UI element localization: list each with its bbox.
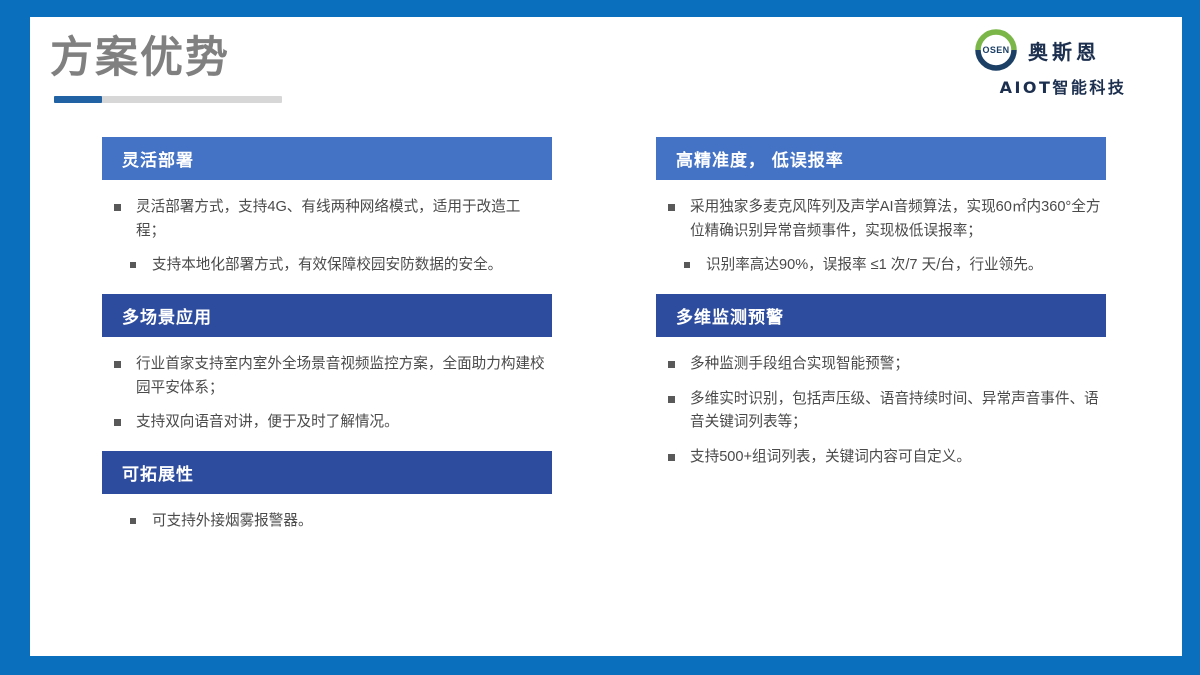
bullet-square-icon <box>668 396 675 403</box>
feature-section: 多维监测预警多种监测手段组合实现智能预警；多维实时识别，包括声压级、语音持续时间… <box>656 294 1106 480</box>
bullet-square-icon <box>668 204 675 211</box>
bullet-item: 支持500+组词列表，关键词内容可自定义。 <box>660 446 1102 470</box>
bullet-list: 行业首家支持室内室外全场景音视频监控方案，全面助力构建校园平安体系；支持双向语音… <box>106 353 548 435</box>
title-underline-accent <box>54 96 102 103</box>
logo-primary-row: OSEN 奥斯恩 <box>972 27 1154 73</box>
bullet-text: 支持本地化部署方式，有效保障校园安防数据的安全。 <box>152 257 502 273</box>
bullet-text: 采用独家多麦克风阵列及声学AI音频算法，实现60㎡内360°全方位精确识别异常音… <box>690 199 1100 239</box>
section-header: 灵活部署 <box>102 137 552 180</box>
bullet-square-icon <box>668 361 675 368</box>
bullet-square-icon <box>130 262 136 268</box>
bullet-text: 多种监测手段组合实现智能预警； <box>690 356 909 372</box>
bullet-square-icon <box>114 419 121 426</box>
section-header: 多维监测预警 <box>656 294 1106 337</box>
bullet-text: 支持双向语音对讲，便于及时了解情况。 <box>136 414 399 430</box>
section-header: 高精准度， 低误报率 <box>656 137 1106 180</box>
left-column: 灵活部署灵活部署方式，支持4G、有线两种网络模式，适用于改造工程；支持本地化部署… <box>102 137 552 549</box>
logo-ring-icon: OSEN <box>972 27 1020 73</box>
bullet-square-icon <box>668 454 675 461</box>
section-body: 灵活部署方式，支持4G、有线两种网络模式，适用于改造工程；支持本地化部署方式，有… <box>102 180 552 288</box>
bullet-text: 识别率高达90%，误报率 ≤1 次/7 天/台，行业领先。 <box>706 257 1042 273</box>
bullet-list: 灵活部署方式，支持4G、有线两种网络模式，适用于改造工程；支持本地化部署方式，有… <box>106 196 548 278</box>
logo-ring-text: OSEN <box>972 27 1020 73</box>
bullet-item: 采用独家多麦克风阵列及声学AI音频算法，实现60㎡内360°全方位精确识别异常音… <box>660 196 1102 243</box>
section-body: 多种监测手段组合实现智能预警；多维实时识别，包括声压级、语音持续时间、异常声音事… <box>656 337 1106 480</box>
bullet-list: 可支持外接烟雾报警器。 <box>106 510 548 534</box>
bullet-text: 多维实时识别，包括声压级、语音持续时间、异常声音事件、语音关键词列表等； <box>690 391 1099 431</box>
bullet-item: 支持本地化部署方式，有效保障校园安防数据的安全。 <box>106 254 548 278</box>
bullet-item: 支持双向语音对讲，便于及时了解情况。 <box>106 411 548 435</box>
company-logo: OSEN 奥斯恩 AIOT智能科技 <box>972 27 1154 99</box>
slide: 方案优势 OSEN 奥斯恩 AIOT智能科技 灵活部署灵活部署方式，支持4G、有… <box>0 0 1200 675</box>
bullet-square-icon <box>114 204 121 211</box>
logo-tagline: AIOT智能科技 <box>972 74 1154 98</box>
slide-content-panel: 方案优势 OSEN 奥斯恩 AIOT智能科技 灵活部署灵活部署方式，支持4G、有… <box>30 17 1182 656</box>
section-body: 采用独家多麦克风阵列及声学AI音频算法，实现60㎡内360°全方位精确识别异常音… <box>656 180 1106 288</box>
bullet-item: 识别率高达90%，误报率 ≤1 次/7 天/台，行业领先。 <box>660 254 1102 278</box>
bullet-text: 支持500+组词列表，关键词内容可自定义。 <box>690 449 971 465</box>
feature-section: 灵活部署灵活部署方式，支持4G、有线两种网络模式，适用于改造工程；支持本地化部署… <box>102 137 552 288</box>
bullet-text: 灵活部署方式，支持4G、有线两种网络模式，适用于改造工程； <box>136 199 520 239</box>
bullet-square-icon <box>114 361 121 368</box>
section-header: 可拓展性 <box>102 451 552 494</box>
bullet-item: 可支持外接烟雾报警器。 <box>106 510 548 534</box>
bullet-list: 多种监测手段组合实现智能预警；多维实时识别，包括声压级、语音持续时间、异常声音事… <box>660 353 1102 470</box>
bullet-list: 采用独家多麦克风阵列及声学AI音频算法，实现60㎡内360°全方位精确识别异常音… <box>660 196 1102 278</box>
feature-section: 多场景应用行业首家支持室内室外全场景音视频监控方案，全面助力构建校园平安体系；支… <box>102 294 552 445</box>
feature-section: 高精准度， 低误报率采用独家多麦克风阵列及声学AI音频算法，实现60㎡内360°… <box>656 137 1106 288</box>
bullet-text: 可支持外接烟雾报警器。 <box>152 513 313 529</box>
feature-section: 可拓展性可支持外接烟雾报警器。 <box>102 451 552 544</box>
bullet-item: 多种监测手段组合实现智能预警； <box>660 353 1102 377</box>
bullet-square-icon <box>684 262 690 268</box>
right-column: 高精准度， 低误报率采用独家多麦克风阵列及声学AI音频算法，实现60㎡内360°… <box>656 137 1106 485</box>
bullet-item: 多维实时识别，包括声压级、语音持续时间、异常声音事件、语音关键词列表等； <box>660 388 1102 435</box>
bullet-item: 行业首家支持室内室外全场景音视频监控方案，全面助力构建校园平安体系； <box>106 353 548 400</box>
section-body: 可支持外接烟雾报警器。 <box>102 494 552 544</box>
section-body: 行业首家支持室内室外全场景音视频监控方案，全面助力构建校园平安体系；支持双向语音… <box>102 337 552 445</box>
bullet-item: 灵活部署方式，支持4G、有线两种网络模式，适用于改造工程； <box>106 196 548 243</box>
section-header: 多场景应用 <box>102 294 552 337</box>
page-title: 方案优势 <box>50 35 230 82</box>
logo-brand-name: 奥斯恩 <box>1028 36 1100 65</box>
bullet-text: 行业首家支持室内室外全场景音视频监控方案，全面助力构建校园平安体系； <box>136 356 545 396</box>
bullet-square-icon <box>130 518 136 524</box>
